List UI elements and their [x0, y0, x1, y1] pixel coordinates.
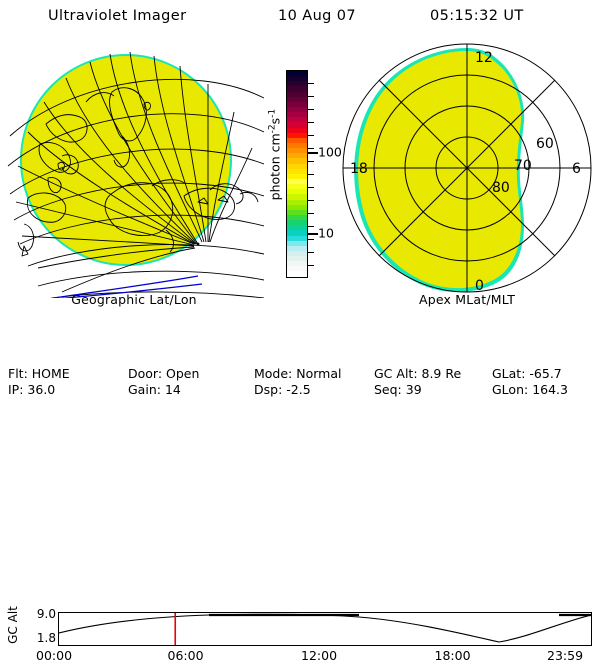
status-field-label: Flt:: [8, 366, 32, 381]
status-field-value: 39: [406, 382, 422, 397]
orbit-x-tick-label: 06:00: [168, 648, 204, 663]
colorbar-minor-tick: [308, 148, 314, 149]
colorbar-minor-tick: [308, 174, 314, 175]
status-field-value: 164.3: [532, 382, 568, 397]
observation-time: 05:15:32 UT: [430, 8, 524, 24]
orbit-y-tick-high: 9.0: [37, 607, 56, 621]
colorbar-gradient: [286, 70, 308, 278]
status-field: GLat: -65.7: [492, 366, 562, 381]
status-field-label: IP:: [8, 382, 27, 397]
status-field-value: HOME: [32, 366, 70, 381]
status-field-value: 8.9 Re: [422, 366, 462, 381]
apex-mlat-mlt-dial: 12 6 0 18 60 70 80: [336, 40, 598, 298]
orbit-x-tick-label: 23:59: [547, 648, 583, 663]
status-field-label: Door:: [128, 366, 166, 381]
altitude-trace: [59, 614, 591, 642]
status-field: IP: 36.0: [8, 382, 55, 397]
colorbar-major-tick: [308, 152, 318, 154]
mlat-label-80: 80: [492, 180, 510, 196]
status-field-value: Open: [166, 366, 199, 381]
colorbar-unit-main: photon cm: [268, 133, 283, 200]
status-field: GLon: 164.3: [492, 382, 568, 397]
mlt-label-12: 12: [475, 50, 493, 66]
status-readout: Flt: HOMEDoor: OpenMode: NormalGC Alt: 8…: [0, 366, 600, 400]
colorbar-minor-tick: [308, 187, 314, 188]
orbit-altitude-strip[interactable]: GC Alt 9.0 1.8 00:0006:0012:0018:0023:59: [0, 300, 600, 356]
intensity-colorbar: photon cm-2s-1 10010: [262, 55, 342, 295]
status-field: Seq: 39: [374, 382, 422, 397]
status-field: Dsp: -2.5: [254, 382, 311, 397]
colorbar-minor-tick: [308, 96, 314, 97]
orbit-x-tick-label: 18:00: [435, 648, 471, 663]
mlt-spokes: [343, 44, 591, 292]
status-field-label: Dsp:: [254, 382, 286, 397]
colorbar-minor-tick: [308, 122, 314, 123]
status-field: Gain: 14: [128, 382, 181, 397]
geographic-aurora-image: [2, 40, 264, 298]
instrument-title: Ultraviolet Imager: [48, 8, 186, 24]
orbit-plot-area[interactable]: [58, 612, 592, 646]
status-field: Flt: HOME: [8, 366, 70, 381]
colorbar-tick-marks: [308, 70, 316, 278]
colorbar-minor-tick: [308, 135, 314, 136]
pole-point: [197, 243, 200, 246]
colorbar-minor-tick: [308, 226, 314, 227]
colorbar-minor-tick: [308, 83, 314, 84]
mlt-label-18: 18: [350, 161, 368, 177]
colorbar-minor-tick: [308, 252, 314, 253]
orbit-y-axis-label: GC Alt: [2, 602, 22, 648]
colorbar-unit-exp1: -2: [267, 124, 277, 133]
status-field: GC Alt: 8.9 Re: [374, 366, 461, 381]
status-field-value: -2.5: [286, 382, 310, 397]
orbit-x-tick-label: 12:00: [301, 648, 337, 663]
mlat-label-70: 70: [514, 158, 532, 174]
status-field-value: 36.0: [27, 382, 55, 397]
mlt-label-6: 6: [572, 161, 581, 177]
orbit-altitude-curve: [59, 613, 591, 645]
colorbar-axis-label: photon cm-2s-1: [267, 95, 282, 215]
colorbar-minor-tick: [308, 161, 314, 162]
status-field-label: Seq:: [374, 382, 406, 397]
orbit-y-tick-labels: 9.0 1.8: [22, 602, 56, 648]
colorbar-unit-mid: s: [268, 118, 283, 125]
colorbar-segment: [287, 271, 307, 276]
status-field-label: GLat:: [492, 366, 529, 381]
colorbar-minor-tick: [308, 200, 314, 201]
orbit-y-tick-low: 1.8: [37, 631, 56, 645]
mlat-label-60: 60: [536, 136, 554, 152]
colorbar-minor-tick: [308, 213, 314, 214]
colorbar-major-tick: [308, 233, 318, 235]
header-bar: Ultraviolet Imager 10 Aug 07 05:15:32 UT: [0, 4, 600, 30]
status-field: Door: Open: [128, 366, 199, 381]
status-field: Mode: Normal: [254, 366, 341, 381]
status-field-value: 14: [165, 382, 181, 397]
observation-date: 10 Aug 07: [278, 8, 356, 24]
status-field-value: -65.7: [529, 366, 561, 381]
orbit-x-tick-labels: 00:0006:0012:0018:0023:59: [0, 648, 600, 666]
geographic-image-panel[interactable]: [2, 40, 264, 298]
uvi-quicklook-window: Ultraviolet Imager 10 Aug 07 05:15:32 UT: [0, 0, 600, 400]
colorbar-minor-tick: [308, 109, 314, 110]
colorbar-tick-label: 10: [318, 226, 334, 241]
colorbar-minor-tick: [308, 239, 314, 240]
orbit-x-tick-label: 00:00: [36, 648, 72, 663]
apex-polar-panel[interactable]: 12 6 0 18 60 70 80: [336, 40, 598, 298]
status-field-label: GC Alt:: [374, 366, 422, 381]
status-field-label: Gain:: [128, 382, 165, 397]
status-field-value: Normal: [296, 366, 341, 381]
colorbar-unit-exp2: -1: [267, 109, 277, 118]
status-field-label: Mode:: [254, 366, 296, 381]
status-field-label: GLon:: [492, 382, 532, 397]
colorbar-minor-tick: [308, 265, 314, 266]
